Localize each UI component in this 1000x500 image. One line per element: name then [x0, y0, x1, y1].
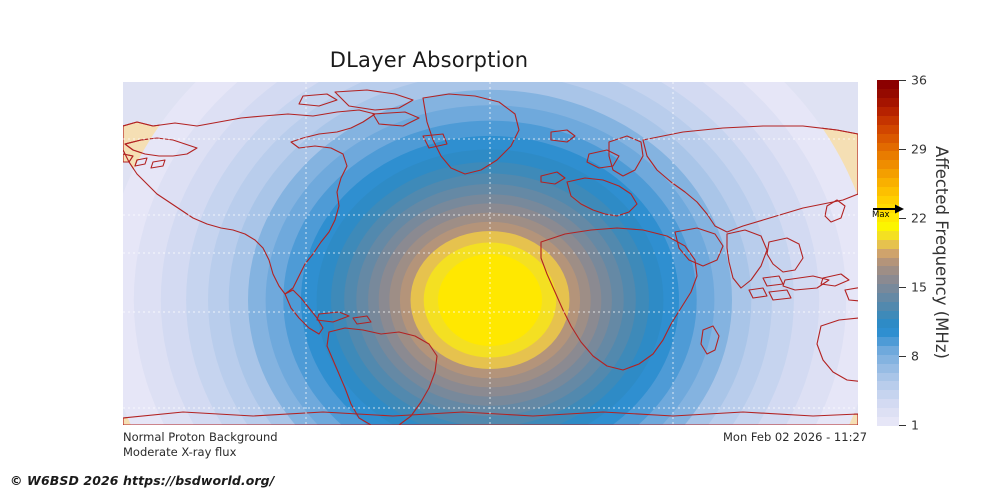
colorbar-band [877, 363, 899, 372]
world-map-panel[interactable] [123, 82, 858, 425]
colorbar-tick-label: 15 [911, 280, 927, 295]
dlayer-absorption-page: DLayer Absorption [0, 0, 1000, 500]
copyright-label: © W6BSD 2026 https://bsdworld.org/ [10, 473, 274, 488]
colorbar-band [877, 115, 899, 124]
page-title: DLayer Absorption [0, 48, 858, 72]
colorbar-band [877, 186, 899, 195]
colorbar-tick [899, 149, 906, 150]
colorbar-band [877, 168, 899, 177]
colorbar-band [877, 398, 899, 407]
colorbar-axis-label: Affected Frequency (MHz) [930, 80, 952, 425]
colorbar-band [877, 416, 899, 425]
colorbar-tick [899, 356, 906, 357]
absorption-peak-core [438, 254, 542, 346]
colorbar-tick-label: 22 [911, 211, 927, 226]
colorbar-max-marker: Max [871, 203, 905, 221]
colorbar-band [877, 328, 899, 337]
colorbar-band [877, 98, 899, 107]
colorbar-band [877, 390, 899, 399]
status-captions: Normal Proton Background Moderate X-ray … [123, 430, 278, 460]
colorbar[interactable]: 1815222936 Max [877, 80, 899, 425]
colorbar-band [877, 301, 899, 310]
colorbar-band [877, 239, 899, 248]
colorbar-band [877, 230, 899, 239]
colorbar-tick-label: 29 [911, 142, 927, 157]
colorbar-band [877, 142, 899, 151]
colorbar-band [877, 222, 899, 231]
colorbar-band [877, 266, 899, 275]
timestamp-label: Mon Feb 02 2026 - 11:27 [723, 430, 867, 444]
colorbar-band [877, 177, 899, 186]
colorbar-tick [899, 425, 906, 426]
colorbar-tick-label: 36 [911, 73, 927, 88]
colorbar-tick-label: 8 [911, 349, 919, 364]
colorbar-band [877, 319, 899, 328]
colorbar-band [877, 151, 899, 160]
colorbar-tick-label: 1 [911, 418, 919, 433]
colorbar-band [877, 337, 899, 346]
colorbar-tick [899, 287, 906, 288]
colorbar-band [877, 248, 899, 257]
colorbar-band [877, 257, 899, 266]
colorbar-band [877, 275, 899, 284]
colorbar-band [877, 133, 899, 142]
colorbar-tick [899, 80, 906, 81]
colorbar-band [877, 160, 899, 169]
colorbar-band [877, 124, 899, 133]
max-marker-label: Max [872, 210, 890, 220]
xray-flux-status: Moderate X-ray flux [123, 445, 278, 460]
colorbar-band [877, 372, 899, 381]
absorption-plume-overlay [123, 82, 858, 425]
colorbar-band [877, 80, 899, 89]
colorbar-band [877, 107, 899, 116]
colorbar-band [877, 407, 899, 416]
colorbar-band [877, 283, 899, 292]
colorbar-band [877, 354, 899, 363]
colorbar-band [877, 381, 899, 390]
colorbar-band [877, 345, 899, 354]
colorbar-band [877, 292, 899, 301]
colorbar-gradient [877, 80, 899, 425]
proton-background-status: Normal Proton Background [123, 430, 278, 445]
colorbar-band [877, 89, 899, 98]
colorbar-band [877, 310, 899, 319]
